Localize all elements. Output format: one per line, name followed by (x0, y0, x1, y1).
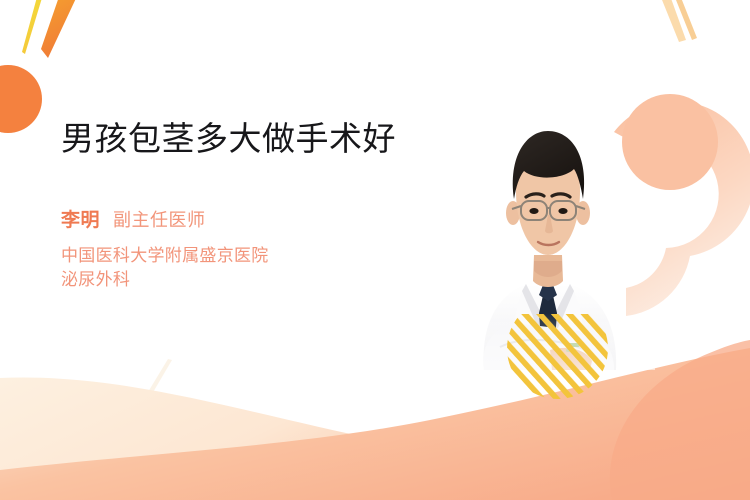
doctor-name: 李明 (61, 205, 100, 232)
hospital-name: 中国医科大学附属盛京医院 (61, 246, 269, 265)
doctor-info-card: 男孩包茎多大做手术好 李明 副主任医师 中国医科大学附属盛京医院 泌尿外科 (0, 0, 750, 500)
doctor-portrait (440, 95, 655, 370)
bottom-wave-light (0, 377, 750, 500)
doctor-title: 副主任医师 (113, 206, 206, 232)
orange-circle (0, 65, 42, 133)
doctor-byline: 李明 副主任医师 (61, 205, 421, 232)
doctor-affiliation: 中国医科大学附属盛京医院 泌尿外科 (61, 244, 361, 292)
page-title: 男孩包茎多大做手术好 (61, 118, 401, 161)
bottom-wave-deep (0, 348, 750, 500)
thin-diagonal-stroke (148, 359, 172, 394)
text-content: 男孩包茎多大做手术好 李明 副主任医师 中国医科大学附属盛京医院 泌尿外科 (61, 118, 421, 292)
diagonal-stripes-top-right (658, 0, 697, 42)
diagonal-stripes-top-left (22, 0, 78, 58)
hospital-department: 泌尿外科 (61, 268, 361, 292)
